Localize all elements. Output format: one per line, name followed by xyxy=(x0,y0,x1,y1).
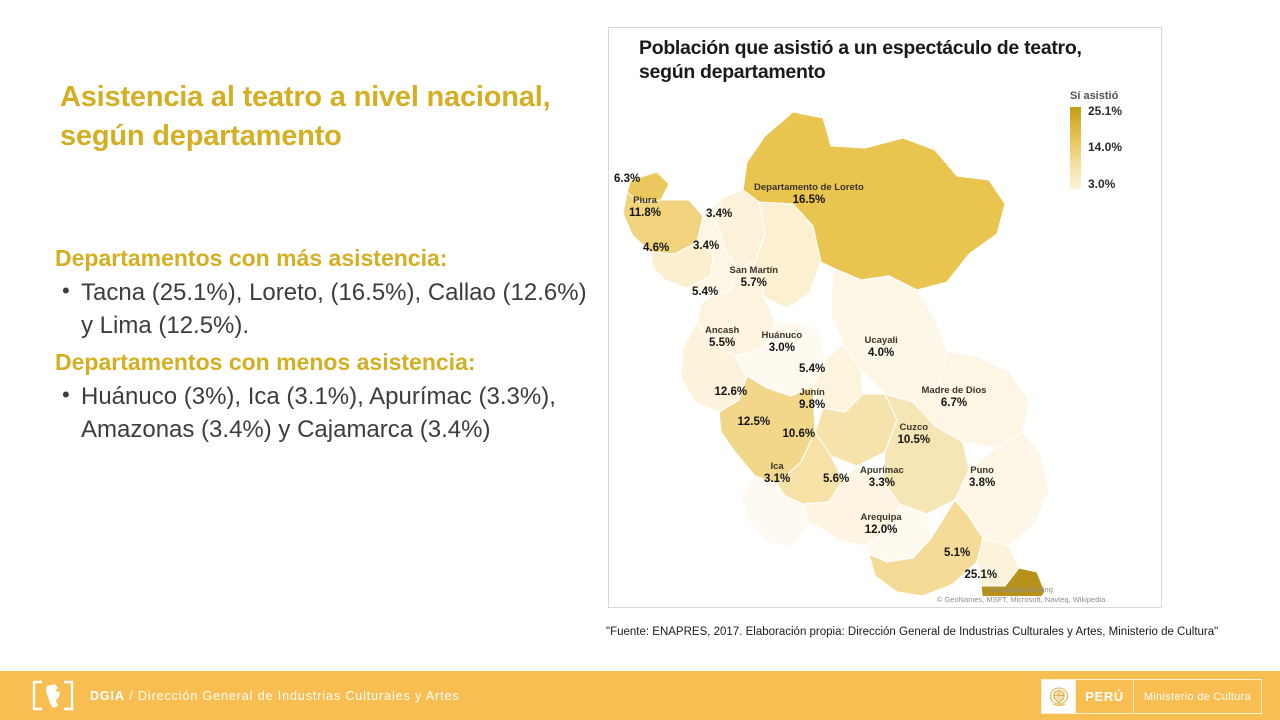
attribution-line-2: © GeoNames, MSFT, Microsoft, Navteq, Wik… xyxy=(901,595,1141,605)
lead-high-attendance: Departamentos con más asistencia: xyxy=(55,244,595,274)
peru-label: PERÚ xyxy=(1075,680,1133,713)
source-caption: "Fuente: ENAPRES, 2017. Elaboración prop… xyxy=(606,624,1236,641)
footer-branding: DGIA / Dirección General de Industrias C… xyxy=(30,678,460,713)
footer-org-abbr: DGIA xyxy=(90,689,125,703)
page-title: Asistencia al teatro a nivel nacional, s… xyxy=(60,78,580,156)
list-item: • Tacna (25.1%), Loreto, (16.5%), Callao… xyxy=(55,276,595,342)
attribution-line-1: Tecnología de Bing xyxy=(989,585,1053,594)
map-chart-panel: Población que asistió a un espectáculo d… xyxy=(608,27,1162,608)
bullet-icon: • xyxy=(55,380,81,410)
footer-bar: DGIA / Dirección General de Industrias C… xyxy=(0,671,1280,720)
footer-org-text: DGIA / Dirección General de Industrias C… xyxy=(90,689,460,703)
dgia-logo-icon xyxy=(30,679,76,712)
bullet-high-text: Tacna (25.1%), Loreto, (16.5%), Callao (… xyxy=(81,276,595,342)
lead-low-attendance: Departamentos con menos asistencia: xyxy=(55,348,595,378)
bullet-icon: • xyxy=(55,276,81,306)
ministry-label: Ministerio de Cultura xyxy=(1133,680,1261,713)
bullet-low-text: Huánuco (3%), Ica (3.1%), Apurímac (3.3%… xyxy=(81,380,595,446)
footer-org-name: Dirección General de Industrias Cultural… xyxy=(138,689,460,703)
government-logo-lockup: PERÚ Ministerio de Cultura xyxy=(1041,679,1262,714)
peru-choropleth-map xyxy=(617,76,1155,596)
body-content: Departamentos con más asistencia: • Tacn… xyxy=(55,244,595,452)
list-item: • Huánuco (3%), Ica (3.1%), Apurímac (3.… xyxy=(55,380,595,446)
map-attribution: Tecnología de Bing © GeoNames, MSFT, Mic… xyxy=(901,585,1141,605)
peru-coat-of-arms-icon xyxy=(1042,680,1075,713)
footer-org-sep: / xyxy=(125,689,138,703)
